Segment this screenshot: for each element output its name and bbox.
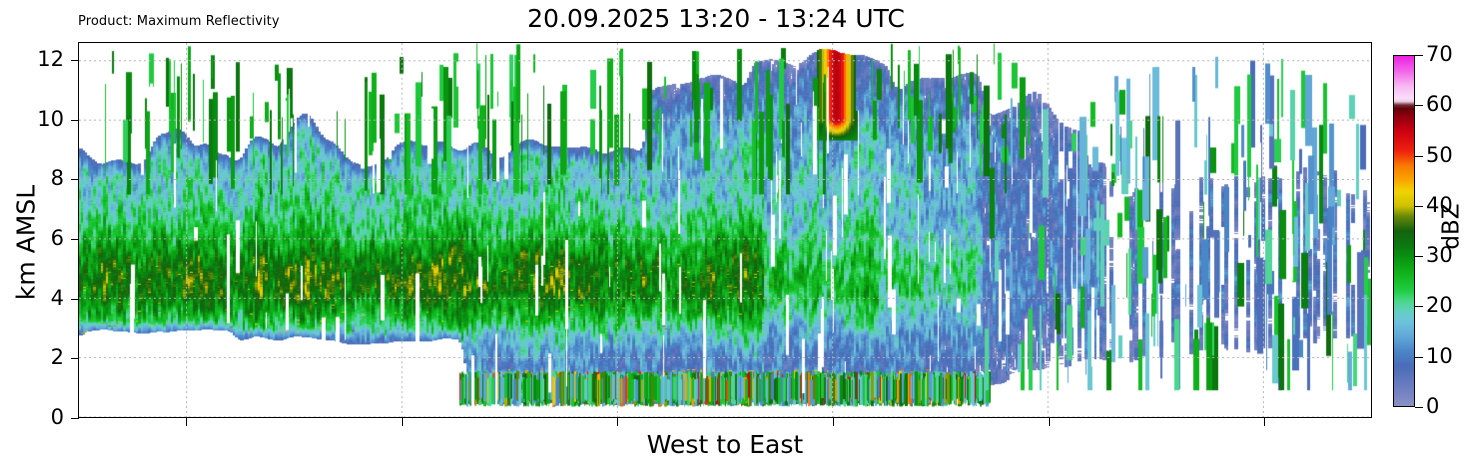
y-tick-label: 0 — [51, 407, 64, 428]
y-tick-label: 2 — [51, 347, 64, 368]
y-tick-label: 8 — [51, 168, 64, 189]
colorbar-tick-mark — [1415, 357, 1423, 358]
y-axis-label: km AMSL — [14, 133, 39, 353]
x-tick-mark — [402, 418, 403, 426]
colorbar-tick-label: 50 — [1426, 145, 1453, 166]
x-tick-mark — [1264, 418, 1265, 426]
colorbar — [1393, 55, 1415, 407]
y-tick-label: 10 — [37, 109, 64, 130]
colorbar-tick-mark — [1415, 306, 1423, 307]
x-axis-label: West to East — [78, 430, 1372, 460]
x-tick-mark — [833, 418, 834, 426]
colorbar-tick-mark — [1415, 256, 1423, 257]
y-tick-label: 4 — [51, 288, 64, 309]
colorbar-tick-label: 0 — [1426, 396, 1439, 417]
y-tick-label: 12 — [37, 49, 64, 70]
colorbar-tick-label: 20 — [1426, 295, 1453, 316]
x-tick-mark — [186, 418, 187, 426]
radar-cross-section-figure: Product: Maximum Reflectivity 20.09.2025… — [0, 0, 1482, 470]
x-tick-mark — [617, 418, 618, 426]
colorbar-gradient — [1393, 55, 1415, 407]
colorbar-unit-label: dBZ — [1441, 167, 1464, 287]
colorbar-tick-mark — [1415, 55, 1423, 56]
colorbar-tick-label: 70 — [1426, 44, 1453, 65]
colorbar-tick-label: 10 — [1426, 346, 1453, 367]
x-tick-mark — [1049, 418, 1050, 426]
plot-area — [78, 42, 1372, 418]
page-title: 20.09.2025 13:20 - 13:24 UTC — [0, 4, 1432, 34]
colorbar-tick-mark — [1415, 105, 1423, 106]
colorbar-tick-label: 60 — [1426, 94, 1453, 115]
colorbar-tick-mark — [1415, 156, 1423, 157]
y-tick-mark — [71, 418, 79, 419]
colorbar-tick-mark — [1415, 206, 1423, 207]
colorbar-tick-mark — [1415, 407, 1423, 408]
y-tick-label: 6 — [51, 228, 64, 249]
reflectivity-heatmap — [79, 43, 1371, 417]
